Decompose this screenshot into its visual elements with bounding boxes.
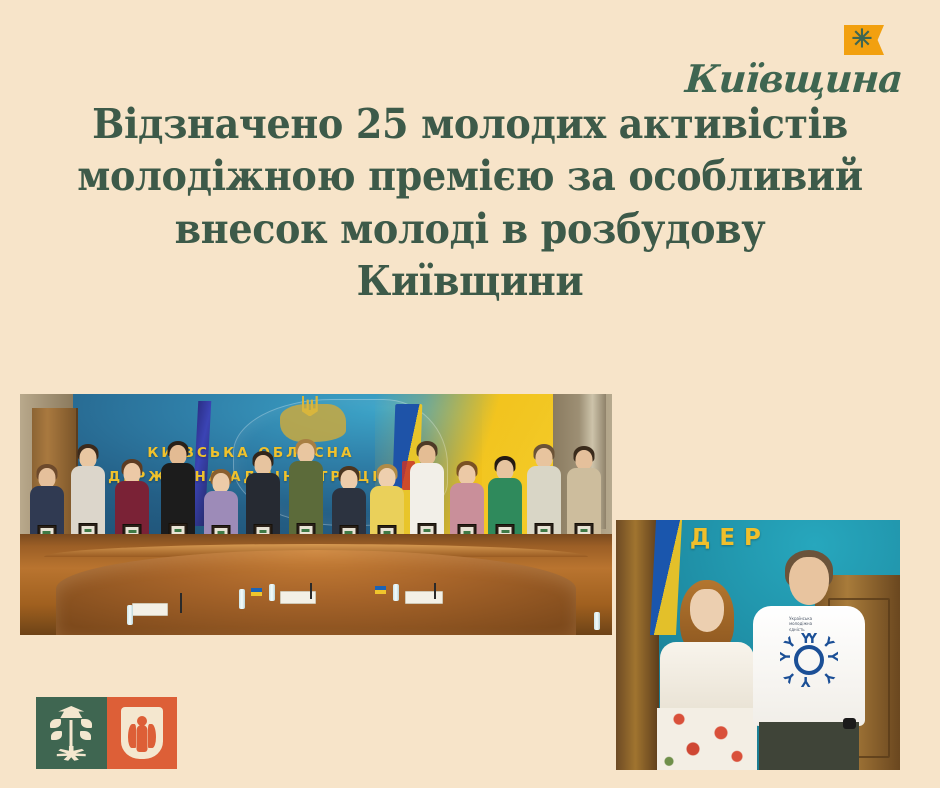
coat-of-arms xyxy=(36,697,177,769)
table-edge xyxy=(44,544,589,557)
skirt xyxy=(657,708,757,770)
water-bottle xyxy=(127,605,133,625)
person-man: Українська молодіжна єдність YY Y Y Y Y … xyxy=(747,550,872,770)
poster-canvas: ✳ Київщина Відзначено 25 молодих активіс… xyxy=(0,0,940,788)
water-bottle xyxy=(594,612,600,630)
desk-flag xyxy=(375,586,386,594)
nameplate xyxy=(132,603,168,616)
water-bottle xyxy=(393,584,399,601)
backdrop-text: ДЕР xyxy=(690,525,770,551)
person-woman xyxy=(656,580,758,770)
desk-flag xyxy=(251,588,262,596)
water-bottle xyxy=(269,584,275,601)
brand-logo: ✳ Київщина xyxy=(672,28,902,98)
tree-of-life-icon xyxy=(36,697,107,769)
tshirt-caption-line2: молодіжна xyxy=(789,621,812,626)
tshirt-caption: Українська молодіжна єдність xyxy=(789,616,812,632)
microphone xyxy=(434,583,436,599)
nameplate xyxy=(405,591,443,604)
asterisk-glyph: ✳ xyxy=(852,27,873,52)
wristwatch xyxy=(843,718,856,729)
sun-emblem-icon: YY Y Y Y Y Y Y Y xyxy=(783,634,835,686)
face xyxy=(789,557,829,605)
trousers xyxy=(759,722,859,770)
wood-panel-left xyxy=(616,520,659,770)
brand-wordmark: Київщина xyxy=(671,60,904,98)
page-title: Відзначено 25 молодих активістів молодіж… xyxy=(59,98,881,308)
microphone xyxy=(310,583,312,599)
archangel-shield-icon xyxy=(107,697,178,769)
asterisk-star-icon: ✳ xyxy=(844,25,884,55)
water-bottle xyxy=(239,589,245,609)
microphone xyxy=(180,593,182,613)
group-photo: КИЇВСЬКА ОБЛАСНА ДЕРЖАВНА АДМІНІСТРАЦІЯ xyxy=(20,394,612,635)
conference-table xyxy=(20,534,612,635)
pair-photo: ДЕР Українська молодіжна єдність YY Y xyxy=(616,520,900,770)
face xyxy=(690,589,724,632)
sun-core xyxy=(794,645,824,675)
blouse xyxy=(660,642,754,714)
